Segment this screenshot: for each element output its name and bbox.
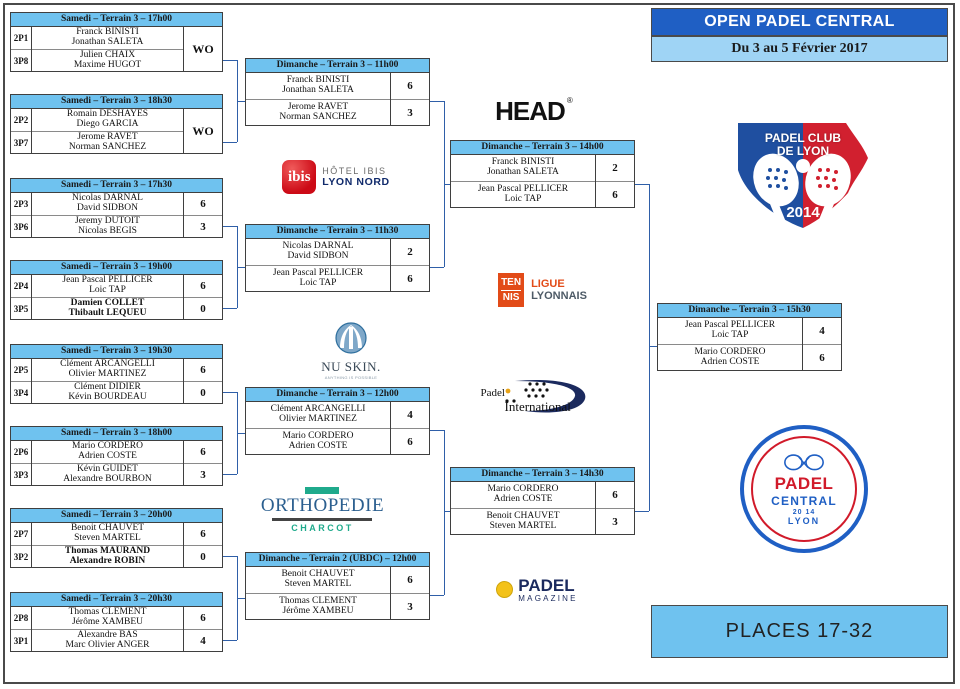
bracket-connector (223, 556, 237, 557)
team-row: Jean Pascal PELLICER Loic TAP (32, 275, 183, 298)
team-row: Franck BINISTI Jonathan SALETA (32, 27, 183, 50)
player-name: Olivier MARTINEZ (69, 370, 147, 380)
bracket-connector (223, 142, 237, 143)
bracket-connector (223, 308, 237, 309)
match-r1-7[interactable]: Samedi – Terrain 3 – 20h00 2P7 3P2 Benoi… (10, 508, 223, 568)
player-name: Norman SANCHEZ (69, 143, 146, 153)
team-row: Thomas MAURAND Alexandre ROBIN (32, 546, 183, 568)
match-final[interactable]: Dimanche – Terrain 3 – 15h30 Jean Pascal… (657, 303, 842, 371)
match-r3-1[interactable]: Dimanche – Terrain 3 – 14h00 Franck BINI… (450, 140, 635, 208)
seed-label: 3P8 (11, 50, 31, 72)
player-name: Norman SANCHEZ (279, 113, 356, 123)
badge-line3: 20 14 (793, 509, 816, 516)
ortho-bar (305, 487, 339, 494)
seed-label: 3P5 (11, 298, 31, 320)
seed-label: 2P7 (11, 523, 31, 546)
nuskin-name: NU SKIN. (321, 359, 381, 375)
team-row: Thomas CLEMENT Jérôme XAMBEU (32, 607, 183, 630)
score-cell: 6 4 (183, 607, 222, 652)
bracket-connector (223, 60, 237, 61)
seed-label: 2P3 (11, 193, 31, 216)
match-header: Dimanche – Terrain 3 – 14h30 (451, 468, 634, 482)
match-header: Dimanche – Terrain 3 – 11h00 (246, 59, 429, 73)
player-name: Jérôme XAMBEU (283, 607, 354, 617)
score-cell: 6 3 (390, 567, 429, 620)
score-value: 6 (184, 193, 222, 216)
seed-label: 2P8 (11, 607, 31, 630)
score-cell: 6 3 (595, 482, 634, 535)
score-value: 3 (184, 216, 222, 238)
bracket-connector (635, 184, 649, 185)
nuskin-fan-icon (329, 322, 373, 358)
score-value: 6 (596, 482, 634, 509)
score-cell: 6 0 (183, 359, 222, 404)
walkover-label: WO (192, 42, 213, 57)
team-row: Damien COLLET Thibault LEQUEU (32, 298, 183, 320)
seed-label: 3P1 (11, 630, 31, 652)
seed-label: 3P6 (11, 216, 31, 238)
score-value: 6 (184, 275, 222, 298)
player-name: Nicolas BEGIS (78, 227, 137, 237)
bracket-connector (649, 184, 650, 511)
match-header: Samedi – Terrain 3 – 17h30 (11, 179, 222, 193)
team-row: Franck BINISTI Jonathan SALETA (451, 155, 595, 182)
player-name: Jonathan SALETA (282, 86, 354, 96)
score-value: 6 (184, 359, 222, 382)
club-line1: PADEL CLUB (728, 132, 878, 145)
bracket-connector (635, 511, 649, 512)
padel-magazine-line1: PADEL (518, 577, 577, 595)
match-header: Dimanche – Terrain 2 (UBDC) – 12h00 (246, 553, 429, 567)
score-value: 6 (184, 441, 222, 464)
match-header: Dimanche – Terrain 3 – 15h30 (658, 304, 841, 318)
score-value: 6 (391, 73, 429, 100)
team-row: Mario CORDERO Adrien COSTE (32, 441, 183, 464)
team-row: Franck BINISTI Jonathan SALETA (246, 73, 390, 100)
score-value: 2 (391, 239, 429, 266)
match-r2-3[interactable]: Dimanche – Terrain 3 – 12h00 Clément ARC… (245, 387, 430, 455)
team-row: Jean Pascal PELLICER Loic TAP (451, 182, 595, 208)
match-r2-4[interactable]: Dimanche – Terrain 2 (UBDC) – 12h00 Beno… (245, 552, 430, 620)
player-name: Adrien COSTE (78, 452, 137, 462)
score-value: 6 (184, 607, 222, 630)
bracket-connector (237, 101, 245, 102)
seed-label: 2P5 (11, 359, 31, 382)
bracket-connector (223, 392, 237, 393)
score-value: 6 (596, 182, 634, 208)
padel-central-badge-logo: PADEL CENTRAL 20 14 LYON (740, 425, 868, 553)
seed-label: 2P6 (11, 441, 31, 464)
match-r1-2[interactable]: Samedi – Terrain 3 – 18h30 2P2 3P7 Romai… (10, 94, 223, 154)
score-value: 3 (391, 100, 429, 126)
score-value: 4 (184, 630, 222, 652)
bracket-connector (430, 267, 444, 268)
ortho-sub: CHARCOT (291, 523, 354, 533)
badge-line1: PADEL (775, 474, 834, 494)
score-cell: WO (183, 109, 222, 154)
badge-rackets-icon (771, 453, 837, 473)
nuskin-tagline: ANYTHING IS POSSIBLE (325, 375, 377, 380)
score-cell: WO (183, 27, 222, 72)
padel-magazine-line2: MAGAZINE (518, 595, 577, 603)
club-line2: DE LYON (728, 145, 878, 158)
match-header: Samedi – Terrain 3 – 20h30 (11, 593, 222, 607)
team-row: Mario CORDERO Adrien COSTE (246, 429, 390, 455)
bracket-connector (649, 346, 657, 347)
score-cell: 2 6 (390, 239, 429, 292)
bracket-connector (223, 474, 237, 475)
team-row: Benoit CHAUVET Steven MARTEL (32, 523, 183, 546)
player-name: Jérôme XAMBEU (72, 618, 143, 628)
team-row: Mario CORDERO Adrien COSTE (451, 482, 595, 509)
ibis-logo: ibis HÔTEL IBIS LYON NORD (266, 155, 406, 199)
score-value: 6 (184, 523, 222, 546)
ligue-lyonnais-logo: TEN NIS LIGUE LYONNAIS (480, 268, 605, 312)
team-row: Alexandre BAS Marc Olivier ANGER (32, 630, 183, 652)
player-name: Jonathan SALETA (72, 38, 144, 48)
match-header: Dimanche – Terrain 3 – 12h00 (246, 388, 429, 402)
padel-international-word1: Padel (481, 387, 505, 399)
padel-club-de-lyon-logo: PADEL CLUB DE LYON 2014 (728, 118, 878, 233)
team-row: Clément ARCANGELLI Olivier MARTINEZ (246, 402, 390, 429)
player-name: Adrien COSTE (494, 495, 553, 505)
badge-line4: LYON (788, 516, 820, 526)
team-row: Jerome RAVET Norman SANCHEZ (246, 100, 390, 126)
score-cell: 6 3 (183, 193, 222, 238)
team-row: Kévin GUIDET Alexandre BOURBON (32, 464, 183, 486)
score-cell: 2 6 (595, 155, 634, 208)
score-cell: 6 3 (183, 441, 222, 486)
score-cell: 4 6 (802, 318, 841, 371)
team-row: Jean Pascal PELLICER Loic TAP (658, 318, 802, 345)
match-header: Dimanche – Terrain 3 – 14h00 (451, 141, 634, 155)
padel-international-logo: Padel International (470, 372, 595, 420)
bracket-connector (237, 598, 245, 599)
player-name: Steven MARTEL (490, 522, 557, 532)
player-name: Adrien COSTE (289, 442, 348, 452)
seed-label: 3P4 (11, 382, 31, 404)
player-name: David SIDBON (77, 204, 138, 214)
seed-label: 3P2 (11, 546, 31, 568)
head-logo-text: HEAD (495, 96, 565, 126)
score-value: 6 (803, 345, 841, 371)
match-r3-2[interactable]: Dimanche – Terrain 3 – 14h30 Mario CORDE… (450, 467, 635, 535)
club-year: 2014 (728, 204, 878, 221)
player-name: Steven MARTEL (74, 534, 141, 544)
seed-label: 3P3 (11, 464, 31, 486)
team-row: Clément DIDIER Kévin BOURDEAU (32, 382, 183, 404)
match-r2-2[interactable]: Dimanche – Terrain 3 – 11h30 Nicolas DAR… (245, 224, 430, 292)
orthopedie-charcot-logo: ORTHOPEDIE CHARCOT (255, 482, 390, 538)
tournament-dates: Du 3 au 5 Février 2017 (651, 36, 948, 62)
match-r1-3[interactable]: Samedi – Terrain 3 – 17h30 2P3 3P6 Nicol… (10, 178, 223, 238)
player-name: Jonathan SALETA (487, 168, 559, 178)
match-r1-6[interactable]: Samedi – Terrain 3 – 18h00 2P6 3P3 Mario… (10, 426, 223, 486)
player-name: David SIDBON (288, 252, 349, 262)
bracket-connector (430, 595, 444, 596)
ligue-line1: LIGUE (531, 278, 587, 290)
ibis-line2: LYON NORD (322, 176, 389, 188)
team-row: Julien CHAIX Maxime HUGOT (32, 50, 183, 72)
score-cell: 6 3 (390, 73, 429, 126)
bracket-connector (430, 101, 444, 102)
team-row: Thomas CLEMENT Jérôme XAMBEU (246, 594, 390, 620)
match-header: Samedi – Terrain 3 – 19h30 (11, 345, 222, 359)
score-value: 3 (391, 594, 429, 620)
bracket-connector (223, 226, 237, 227)
match-r1-8[interactable]: Samedi – Terrain 3 – 20h30 2P8 3P1 Thoma… (10, 592, 223, 652)
player-name: Kévin BOURDEAU (68, 393, 146, 403)
score-value: 6 (391, 567, 429, 594)
player-name: Diego GARCIA (76, 120, 138, 130)
score-value: 6 (391, 429, 429, 455)
tennis-mark-line1: TEN (501, 277, 521, 289)
tennis-ball-icon (496, 581, 513, 598)
score-cell: 6 0 (183, 523, 222, 568)
match-header: Samedi – Terrain 3 – 17h00 (11, 13, 222, 27)
score-value: 0 (184, 382, 222, 404)
team-row: Nicolas DARNAL David SIDBON (32, 193, 183, 216)
player-name: Marc Olivier ANGER (66, 641, 150, 651)
match-r1-4[interactable]: Samedi – Terrain 3 – 19h00 2P4 3P5 Jean … (10, 260, 223, 320)
team-row: Jean Pascal PELLICER Loic TAP (246, 266, 390, 292)
score-value: 0 (184, 298, 222, 320)
ibis-line1: HÔTEL IBIS (322, 166, 389, 176)
bracket-connector (444, 430, 445, 595)
score-value: 3 (184, 464, 222, 486)
player-name: Adrien COSTE (701, 358, 760, 368)
player-name: Alexandre ROBIN (70, 557, 146, 567)
ibis-mark: ibis (282, 160, 316, 194)
player-name: Loic TAP (712, 331, 749, 341)
player-name: Loic TAP (300, 279, 337, 289)
seed-label: 2P2 (11, 109, 31, 132)
bracket-connector (237, 433, 245, 434)
places-label: PLACES 17-32 (651, 605, 948, 658)
match-header: Dimanche – Terrain 3 – 11h30 (246, 225, 429, 239)
divider (272, 518, 372, 521)
player-name: Loic TAP (89, 286, 126, 296)
seed-label: 2P1 (11, 27, 31, 50)
score-value: 2 (596, 155, 634, 182)
player-name: Alexandre BOURBON (63, 475, 151, 485)
match-r1-5[interactable]: Samedi – Terrain 3 – 19h30 2P5 3P4 Cléme… (10, 344, 223, 404)
bracket-connector (237, 267, 245, 268)
team-row: Clément ARCANGELLI Olivier MARTINEZ (32, 359, 183, 382)
ortho-name: ORTHOPEDIE (261, 495, 384, 517)
tennis-mark-line2: NIS (503, 292, 520, 304)
player-name: Steven MARTEL (285, 580, 352, 590)
ligue-line2: LYONNAIS (531, 290, 587, 302)
score-cell: 4 6 (390, 402, 429, 455)
seed-label: 2P4 (11, 275, 31, 298)
player-name: Thibault LEQUEU (69, 309, 147, 319)
score-value: 4 (391, 402, 429, 429)
team-row: Jeremy DUTOIT Nicolas BEGIS (32, 216, 183, 238)
match-header: Samedi – Terrain 3 – 18h30 (11, 95, 222, 109)
bracket-connector (223, 640, 237, 641)
bracket-connector (430, 430, 444, 431)
divider (501, 290, 521, 291)
score-value: 4 (803, 318, 841, 345)
score-value: 6 (391, 266, 429, 292)
team-row: Jerome RAVET Norman SANCHEZ (32, 132, 183, 154)
registered-mark: ® (567, 96, 572, 105)
team-row: Mario CORDERO Adrien COSTE (658, 345, 802, 371)
match-header: Samedi – Terrain 3 – 19h00 (11, 261, 222, 275)
score-value: 0 (184, 546, 222, 568)
match-r1-1[interactable]: Samedi – Terrain 3 – 17h00 2P1 3P8 Franc… (10, 12, 223, 72)
player-name: Olivier MARTINEZ (279, 415, 357, 425)
seed-label: 3P7 (11, 132, 31, 154)
player-name: Loic TAP (505, 195, 542, 205)
team-row: Romain DESHAYES Diego GARCIA (32, 109, 183, 132)
walkover-label: WO (192, 124, 213, 139)
page-title: OPEN PADEL CENTRAL (651, 8, 948, 36)
match-header: Samedi – Terrain 3 – 20h00 (11, 509, 222, 523)
padel-magazine-logo: PADEL MAGAZINE (477, 570, 597, 610)
head-logo: HEAD ® (470, 92, 590, 130)
tennis-mark: TEN NIS (498, 273, 524, 307)
match-r2-1[interactable]: Dimanche – Terrain 3 – 11h00 Franck BINI… (245, 58, 430, 126)
score-cell: 6 0 (183, 275, 222, 320)
team-row: Nicolas DARNAL David SIDBON (246, 239, 390, 266)
team-row: Benoit CHAUVET Steven MARTEL (451, 509, 595, 535)
team-row: Benoit CHAUVET Steven MARTEL (246, 567, 390, 594)
player-name: Maxime HUGOT (74, 61, 141, 71)
badge-line2: CENTRAL (771, 494, 837, 508)
score-value: 3 (596, 509, 634, 535)
nuskin-logo: NU SKIN. ANYTHING IS POSSIBLE (296, 322, 406, 380)
match-header: Samedi – Terrain 3 – 18h00 (11, 427, 222, 441)
padel-international-word2: International (505, 399, 571, 415)
